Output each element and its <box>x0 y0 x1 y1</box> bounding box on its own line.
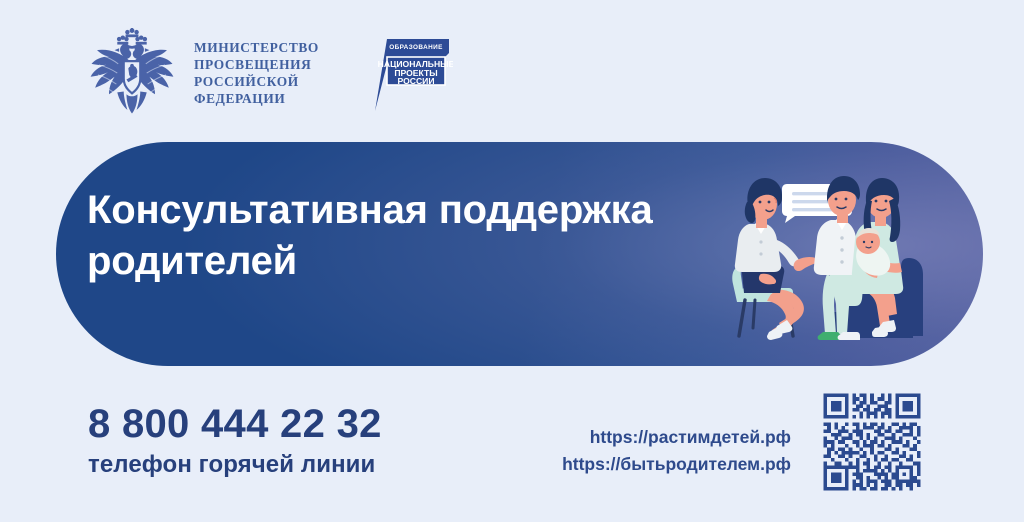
np-line-3: РОССИИ <box>397 76 434 86</box>
ministry-title: Министерство Просвещения Российской Феде… <box>194 40 319 108</box>
website-links: https://растимдетей.рф https://быть­роди… <box>529 424 791 479</box>
hotline-phone-number[interactable]: 8 800 444 22 32 <box>88 404 382 446</box>
np-top-label: ОБРАЗОВАНИЕ <box>389 44 443 51</box>
hotline-block: 8 800 444 22 32 телефон горячей линии <box>88 404 382 479</box>
national-projects-logo: ОБРАЗОВАНИЕ НАЦИОНАЛЬНЫЕ ПРОЕКТЫ РОССИИ <box>357 33 453 115</box>
ministry-line-2: Просвещения <box>194 57 319 74</box>
banner-title: Консультативная поддержка родителей <box>87 185 653 287</box>
ministry-line-1: Министерство <box>194 40 319 57</box>
ministry-line-4: Федерации <box>194 91 319 108</box>
qr-code[interactable] <box>820 390 924 494</box>
ministry-line-3: Российской <box>194 74 319 91</box>
hotline-caption: телефон горячей линии <box>88 451 382 479</box>
russian-double-headed-eagle-emblem <box>86 28 178 120</box>
main-banner: Консультативная поддержка родителей <box>56 142 983 366</box>
website-link-rastimdetey[interactable]: https://растимдетей.рф <box>529 424 791 451</box>
website-link-bytroditelem[interactable]: https://быть­родителем.рф <box>529 451 791 478</box>
family-consultation-illustration <box>725 162 957 348</box>
header-logos: Министерство Просвещения Российской Феде… <box>86 26 453 122</box>
